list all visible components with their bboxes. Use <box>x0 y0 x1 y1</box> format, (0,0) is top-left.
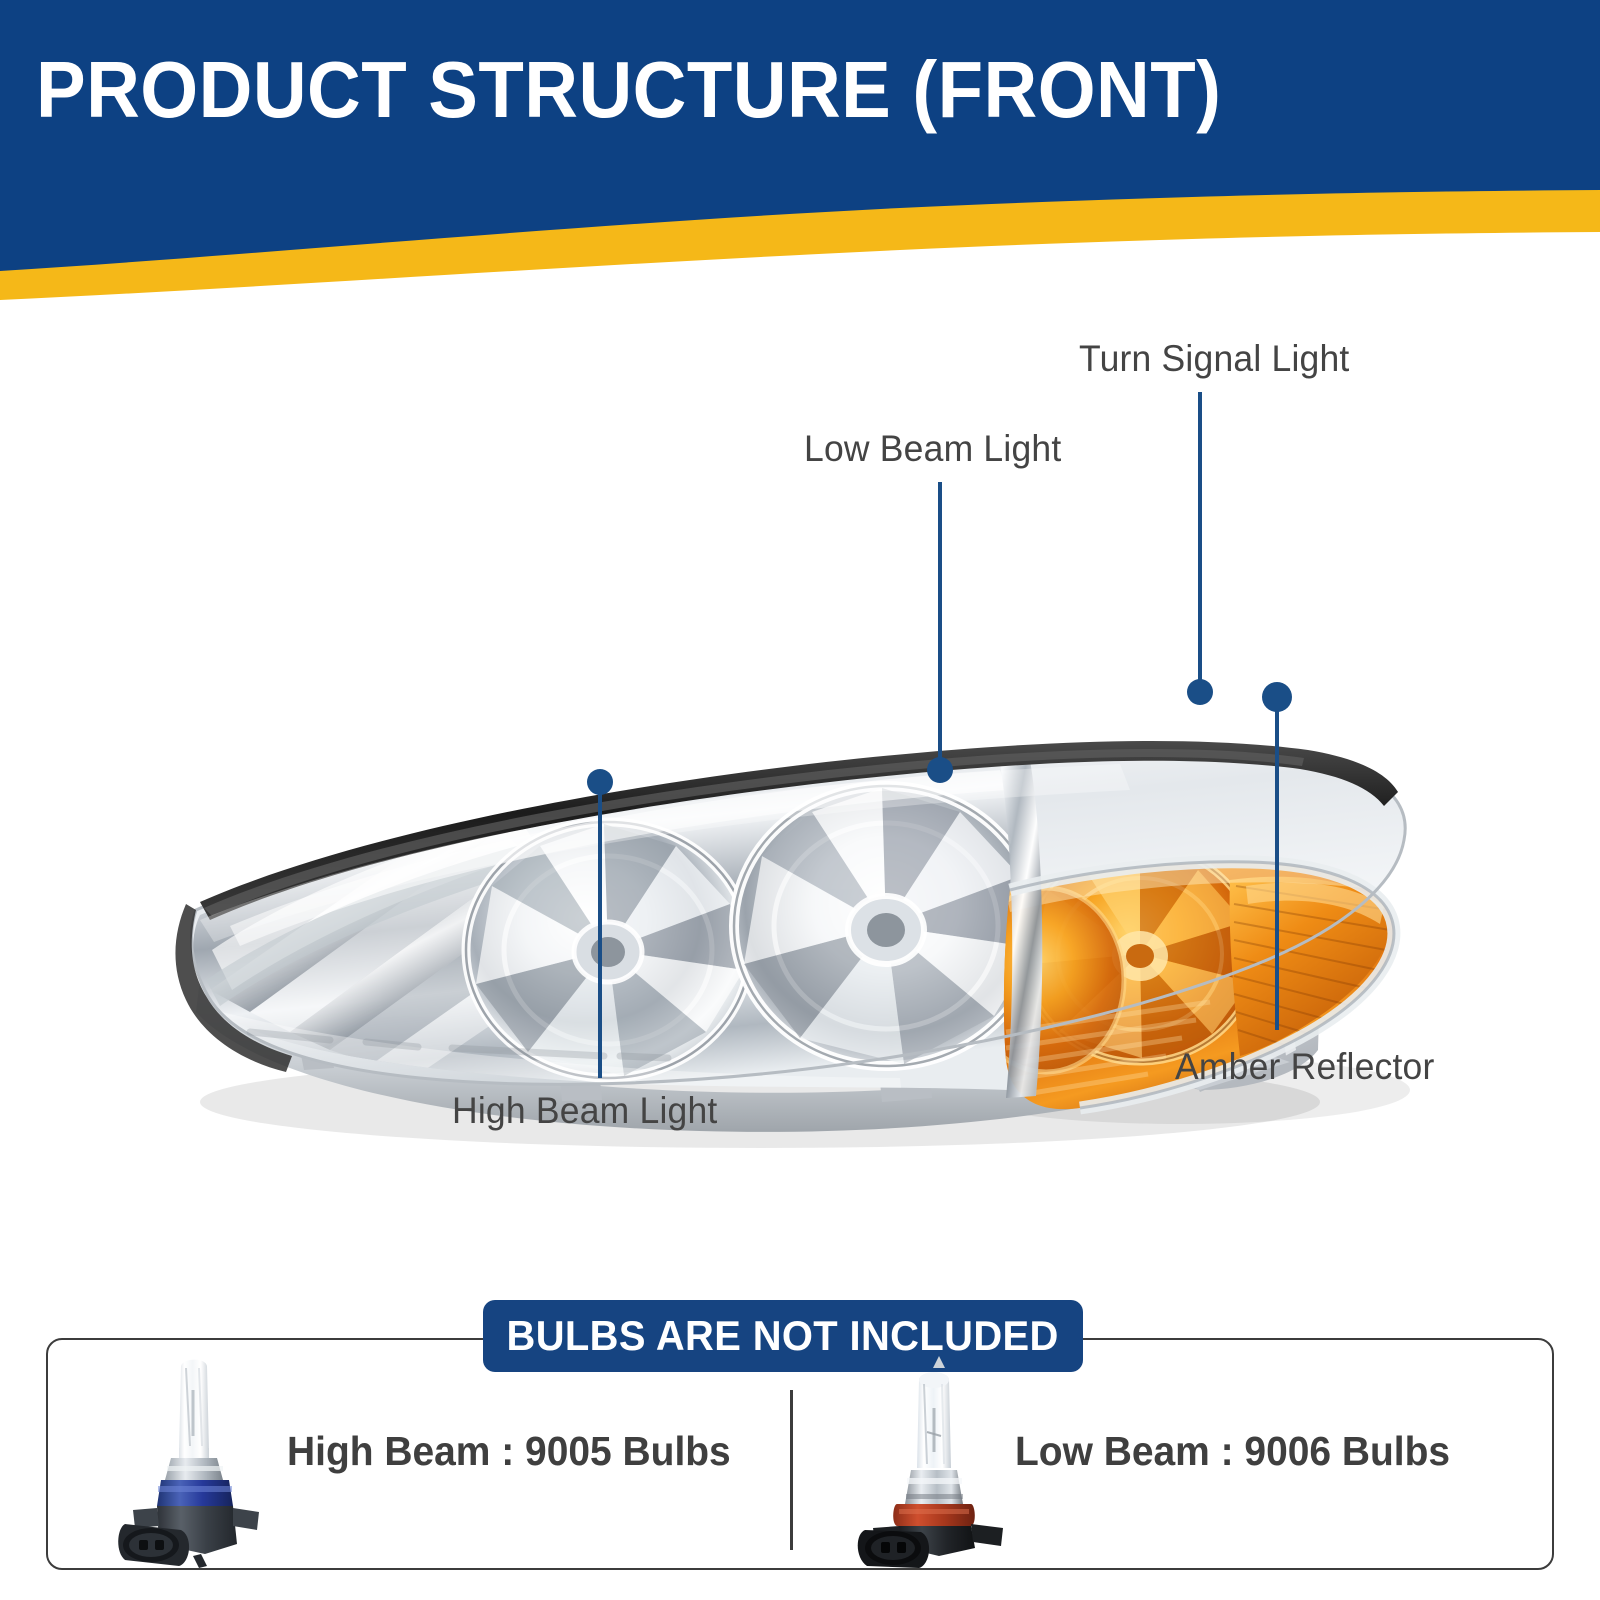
header-banner: PRODUCT STRUCTURE (FRONT) <box>0 0 1600 300</box>
bulb-connector-plug <box>118 1524 189 1566</box>
low-beam-reflector-bowl <box>734 786 1038 1066</box>
high-beam-bulb-caption: High Beam : 9005 Bulbs <box>287 1428 731 1475</box>
bulb-blue-collar <box>157 1480 233 1506</box>
bulbs-panel-divider <box>790 1390 793 1550</box>
page-title: PRODUCT STRUCTURE (FRONT) <box>36 48 1468 132</box>
bulb-connector-plug <box>858 1530 929 1568</box>
callout-label-amber-reflector: Amber Reflector <box>1175 1046 1435 1088</box>
product-illustration <box>0 290 1600 1290</box>
callout-label-turn-signal-light: Turn Signal Light <box>1079 338 1349 380</box>
callout-label-low-beam-light: Low Beam Light <box>804 428 1061 470</box>
callout-label-high-beam-light: High Beam Light <box>452 1090 717 1132</box>
low-beam-bulb-image <box>853 1352 1033 1570</box>
low-beam-bulb-caption: Low Beam : 9006 Bulbs <box>1015 1428 1450 1475</box>
bulb-red-gasket <box>893 1504 975 1526</box>
high-beam-bulb-image <box>113 1348 293 1570</box>
